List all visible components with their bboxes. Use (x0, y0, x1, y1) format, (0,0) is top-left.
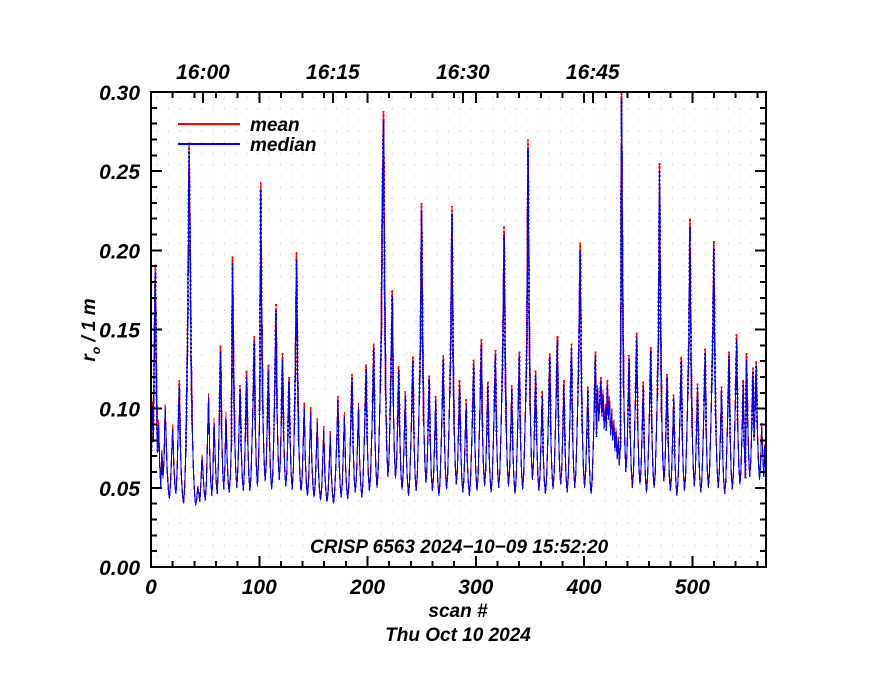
chart-canvas: 01002003004005000.000.050.100.150.200.25… (0, 0, 880, 680)
legend-label-median: median (250, 135, 317, 156)
y-tick-label: 0.05 (99, 478, 140, 501)
x-axis-subtitle: Thu Oct 10 2024 (385, 625, 531, 646)
y-tick-label: 0.25 (99, 161, 140, 184)
x-tick-label: 0 (145, 576, 157, 599)
y-tick-label: 0.15 (99, 320, 140, 343)
x-axis-title: scan # (428, 601, 488, 622)
y-tick-label: 0.20 (99, 240, 140, 263)
top-time-label: 16:00 (176, 61, 230, 84)
y-tick-label: 0.00 (99, 557, 140, 580)
r0-timeseries-chart: 01002003004005000.000.050.100.150.200.25… (0, 0, 880, 680)
x-tick-label: 400 (566, 576, 602, 599)
x-tick-label: 300 (458, 576, 493, 599)
y-axis-title-subscript: o (89, 347, 103, 354)
legend-label-mean: mean (250, 115, 300, 136)
y-tick-label: 0.30 (99, 82, 140, 105)
top-time-label: 16:15 (306, 61, 360, 84)
y-axis-title-units: / 1 m (79, 298, 100, 347)
x-tick-label: 500 (675, 576, 710, 599)
top-time-label: 16:30 (436, 61, 490, 84)
x-tick-label: 100 (242, 576, 277, 599)
plot-annotation: CRISP 6563 2024−10−09 15:52:20 (310, 537, 609, 558)
x-tick-label: 200 (349, 576, 385, 599)
y-tick-label: 0.10 (99, 399, 140, 422)
top-time-label: 16:45 (566, 61, 620, 84)
